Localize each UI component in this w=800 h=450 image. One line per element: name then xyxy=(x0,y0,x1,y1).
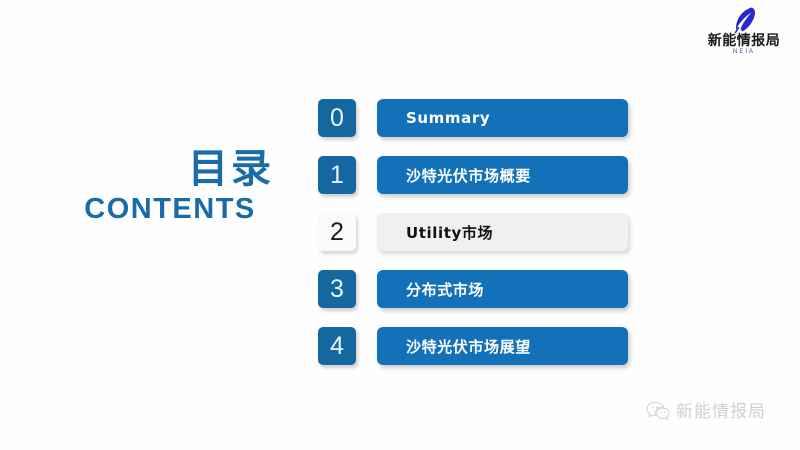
toc-item-4[interactable]: 4 沙特光伏市场展望 xyxy=(318,327,628,365)
toc-number-1: 1 xyxy=(330,163,344,188)
toc-number-3: 3 xyxy=(330,277,344,302)
toc-label-1: 沙特光伏市场概要 xyxy=(406,165,531,186)
toc-number-0: 0 xyxy=(330,106,344,131)
page-title-en: CONTENTS xyxy=(60,192,280,226)
toc-number-box-4[interactable]: 4 xyxy=(318,327,356,365)
page-title: 目录 CONTENTS xyxy=(60,146,280,226)
watermark-text: 新能情报局 xyxy=(676,402,766,422)
toc-number-2: 2 xyxy=(330,220,344,245)
toc-item-2[interactable]: 2 Utility市场 xyxy=(318,213,628,251)
table-of-contents: 0 Summary 1 沙特光伏市场概要 2 Utility市场 3 xyxy=(318,99,628,365)
quill-feather-icon xyxy=(729,6,759,34)
toc-bar-4[interactable]: 沙特光伏市场展望 xyxy=(377,327,628,365)
toc-item-1[interactable]: 1 沙特光伏市场概要 xyxy=(318,156,628,194)
toc-bar-0[interactable]: Summary xyxy=(377,99,628,137)
toc-item-0[interactable]: 0 Summary xyxy=(318,99,628,137)
toc-bar-1[interactable]: 沙特光伏市场概要 xyxy=(377,156,628,194)
page-title-cn: 目录 xyxy=(60,146,280,192)
wechat-icon xyxy=(646,401,670,422)
toc-label-2: Utility市场 xyxy=(406,222,493,243)
toc-item-3[interactable]: 3 分布式市场 xyxy=(318,270,628,308)
watermark: 新能情报局 xyxy=(646,401,766,422)
toc-label-3: 分布式市场 xyxy=(406,279,484,300)
brand-name-en: NEIA xyxy=(698,48,790,56)
toc-bar-2[interactable]: Utility市场 xyxy=(377,213,628,251)
toc-bar-3[interactable]: 分布式市场 xyxy=(377,270,628,308)
toc-label-4: 沙特光伏市场展望 xyxy=(406,336,531,357)
toc-number-box-0[interactable]: 0 xyxy=(318,99,356,137)
brand-logo: 新能情报局 NEIA xyxy=(698,6,790,58)
toc-number-box-1[interactable]: 1 xyxy=(318,156,356,194)
brand-name-cn: 新能情报局 xyxy=(698,33,790,48)
presentation-slide: 新能情报局 NEIA 目录 CONTENTS 0 Summary 1 沙特光伏市… xyxy=(0,0,800,450)
toc-number-box-3[interactable]: 3 xyxy=(318,270,356,308)
toc-label-0: Summary xyxy=(406,109,490,127)
toc-number-box-2[interactable]: 2 xyxy=(318,213,356,251)
toc-number-4: 4 xyxy=(330,334,344,359)
